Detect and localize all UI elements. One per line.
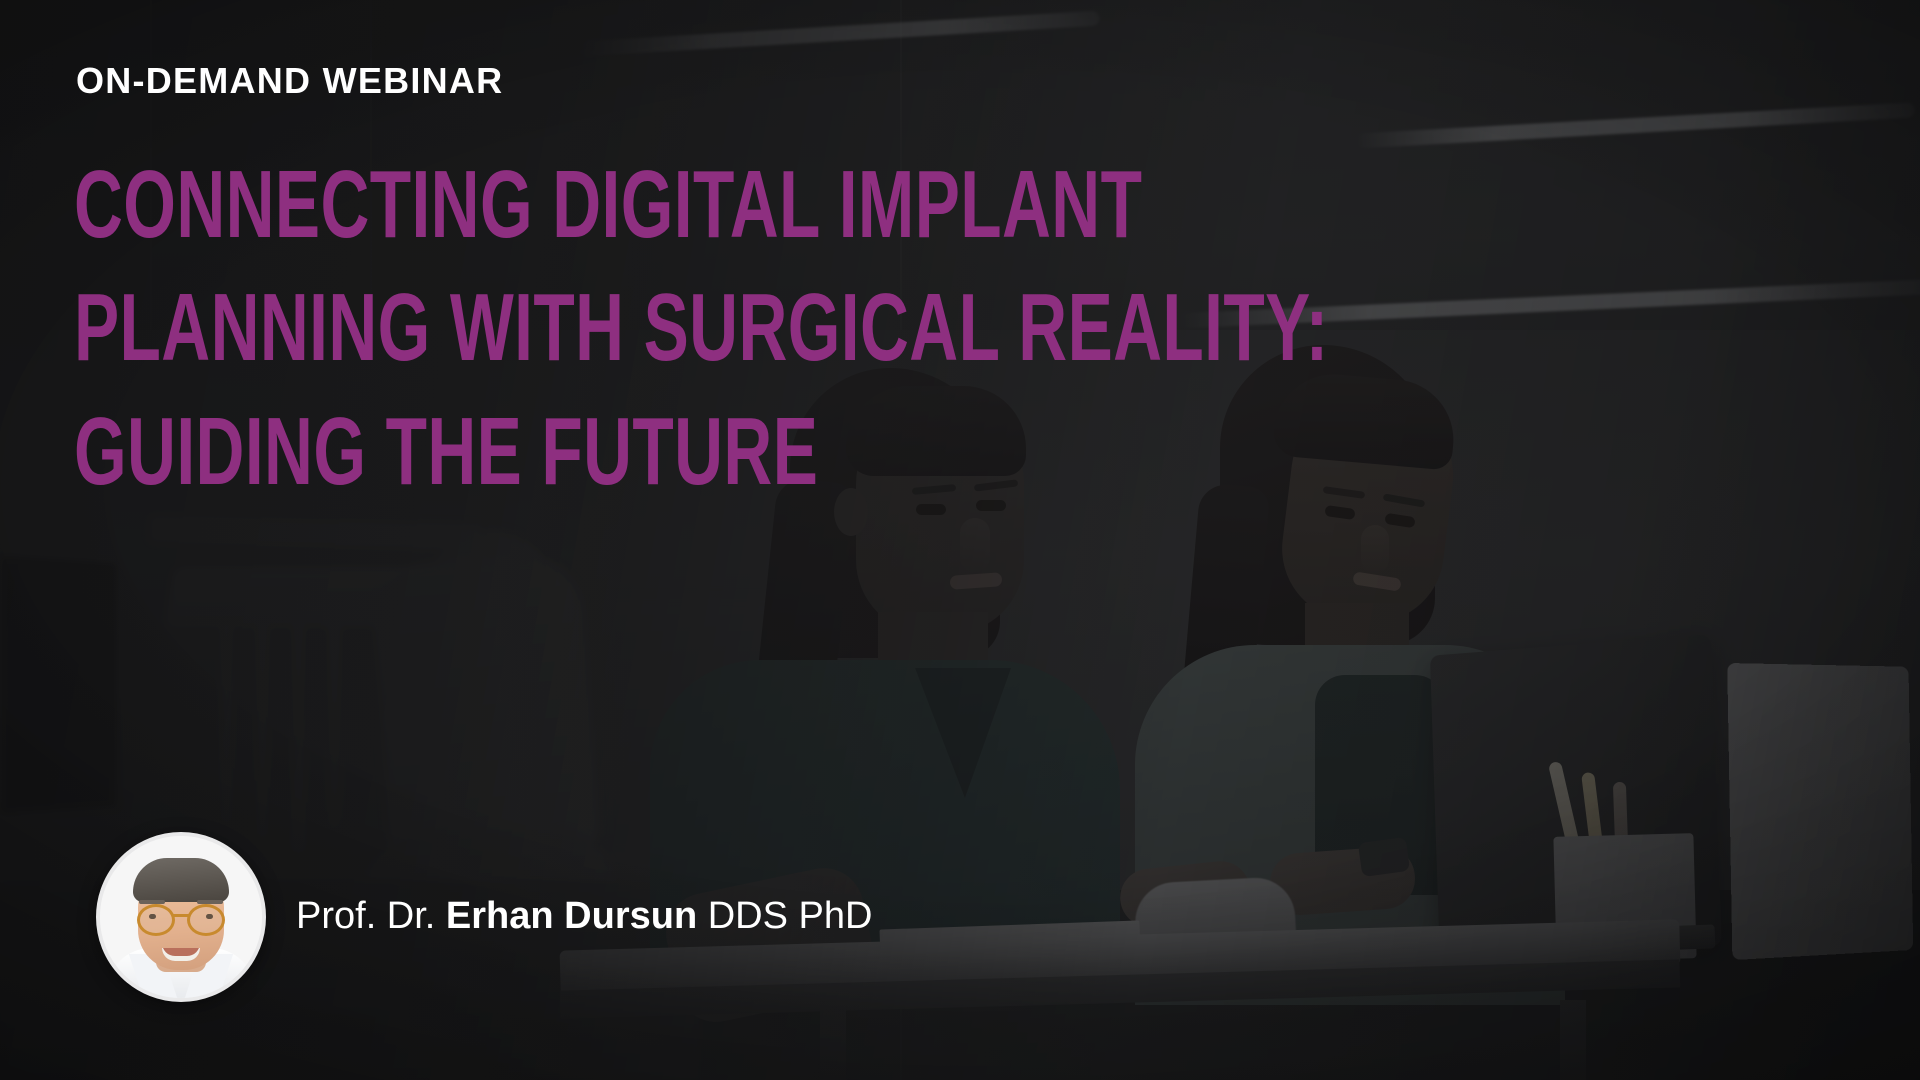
glasses-lens [187, 904, 225, 936]
headline-line-3: GUIDING THE FUTURE [74, 397, 962, 506]
speaker-credentials: DDS PhD [697, 895, 872, 937]
glasses-bridge [172, 914, 190, 917]
glasses-lens [137, 904, 175, 936]
avatar-hair [133, 858, 229, 902]
headline-line-2: PLANNING WITH SURGICAL REALITY: [74, 273, 962, 382]
headline: CONNECTING DIGITAL IMPLANT PLANNING WITH… [74, 150, 1334, 520]
avatar [96, 832, 266, 1002]
speaker-prefix: Prof. Dr. [296, 895, 446, 937]
eyeglasses-icon [135, 904, 227, 930]
banner-content: ON-DEMAND WEBINAR CONNECTING DIGITAL IMP… [0, 0, 1920, 1080]
webinar-banner: ON-DEMAND WEBINAR CONNECTING DIGITAL IMP… [0, 0, 1920, 1080]
headline-line-1: CONNECTING DIGITAL IMPLANT [74, 150, 962, 259]
speaker-fullname: Erhan Dursun [446, 895, 697, 937]
kicker-label: ON-DEMAND WEBINAR [76, 63, 503, 99]
speaker-block: Prof. Dr. Erhan Dursun DDS PhD [96, 832, 872, 1002]
speaker-name: Prof. Dr. Erhan Dursun DDS PhD [296, 896, 872, 938]
